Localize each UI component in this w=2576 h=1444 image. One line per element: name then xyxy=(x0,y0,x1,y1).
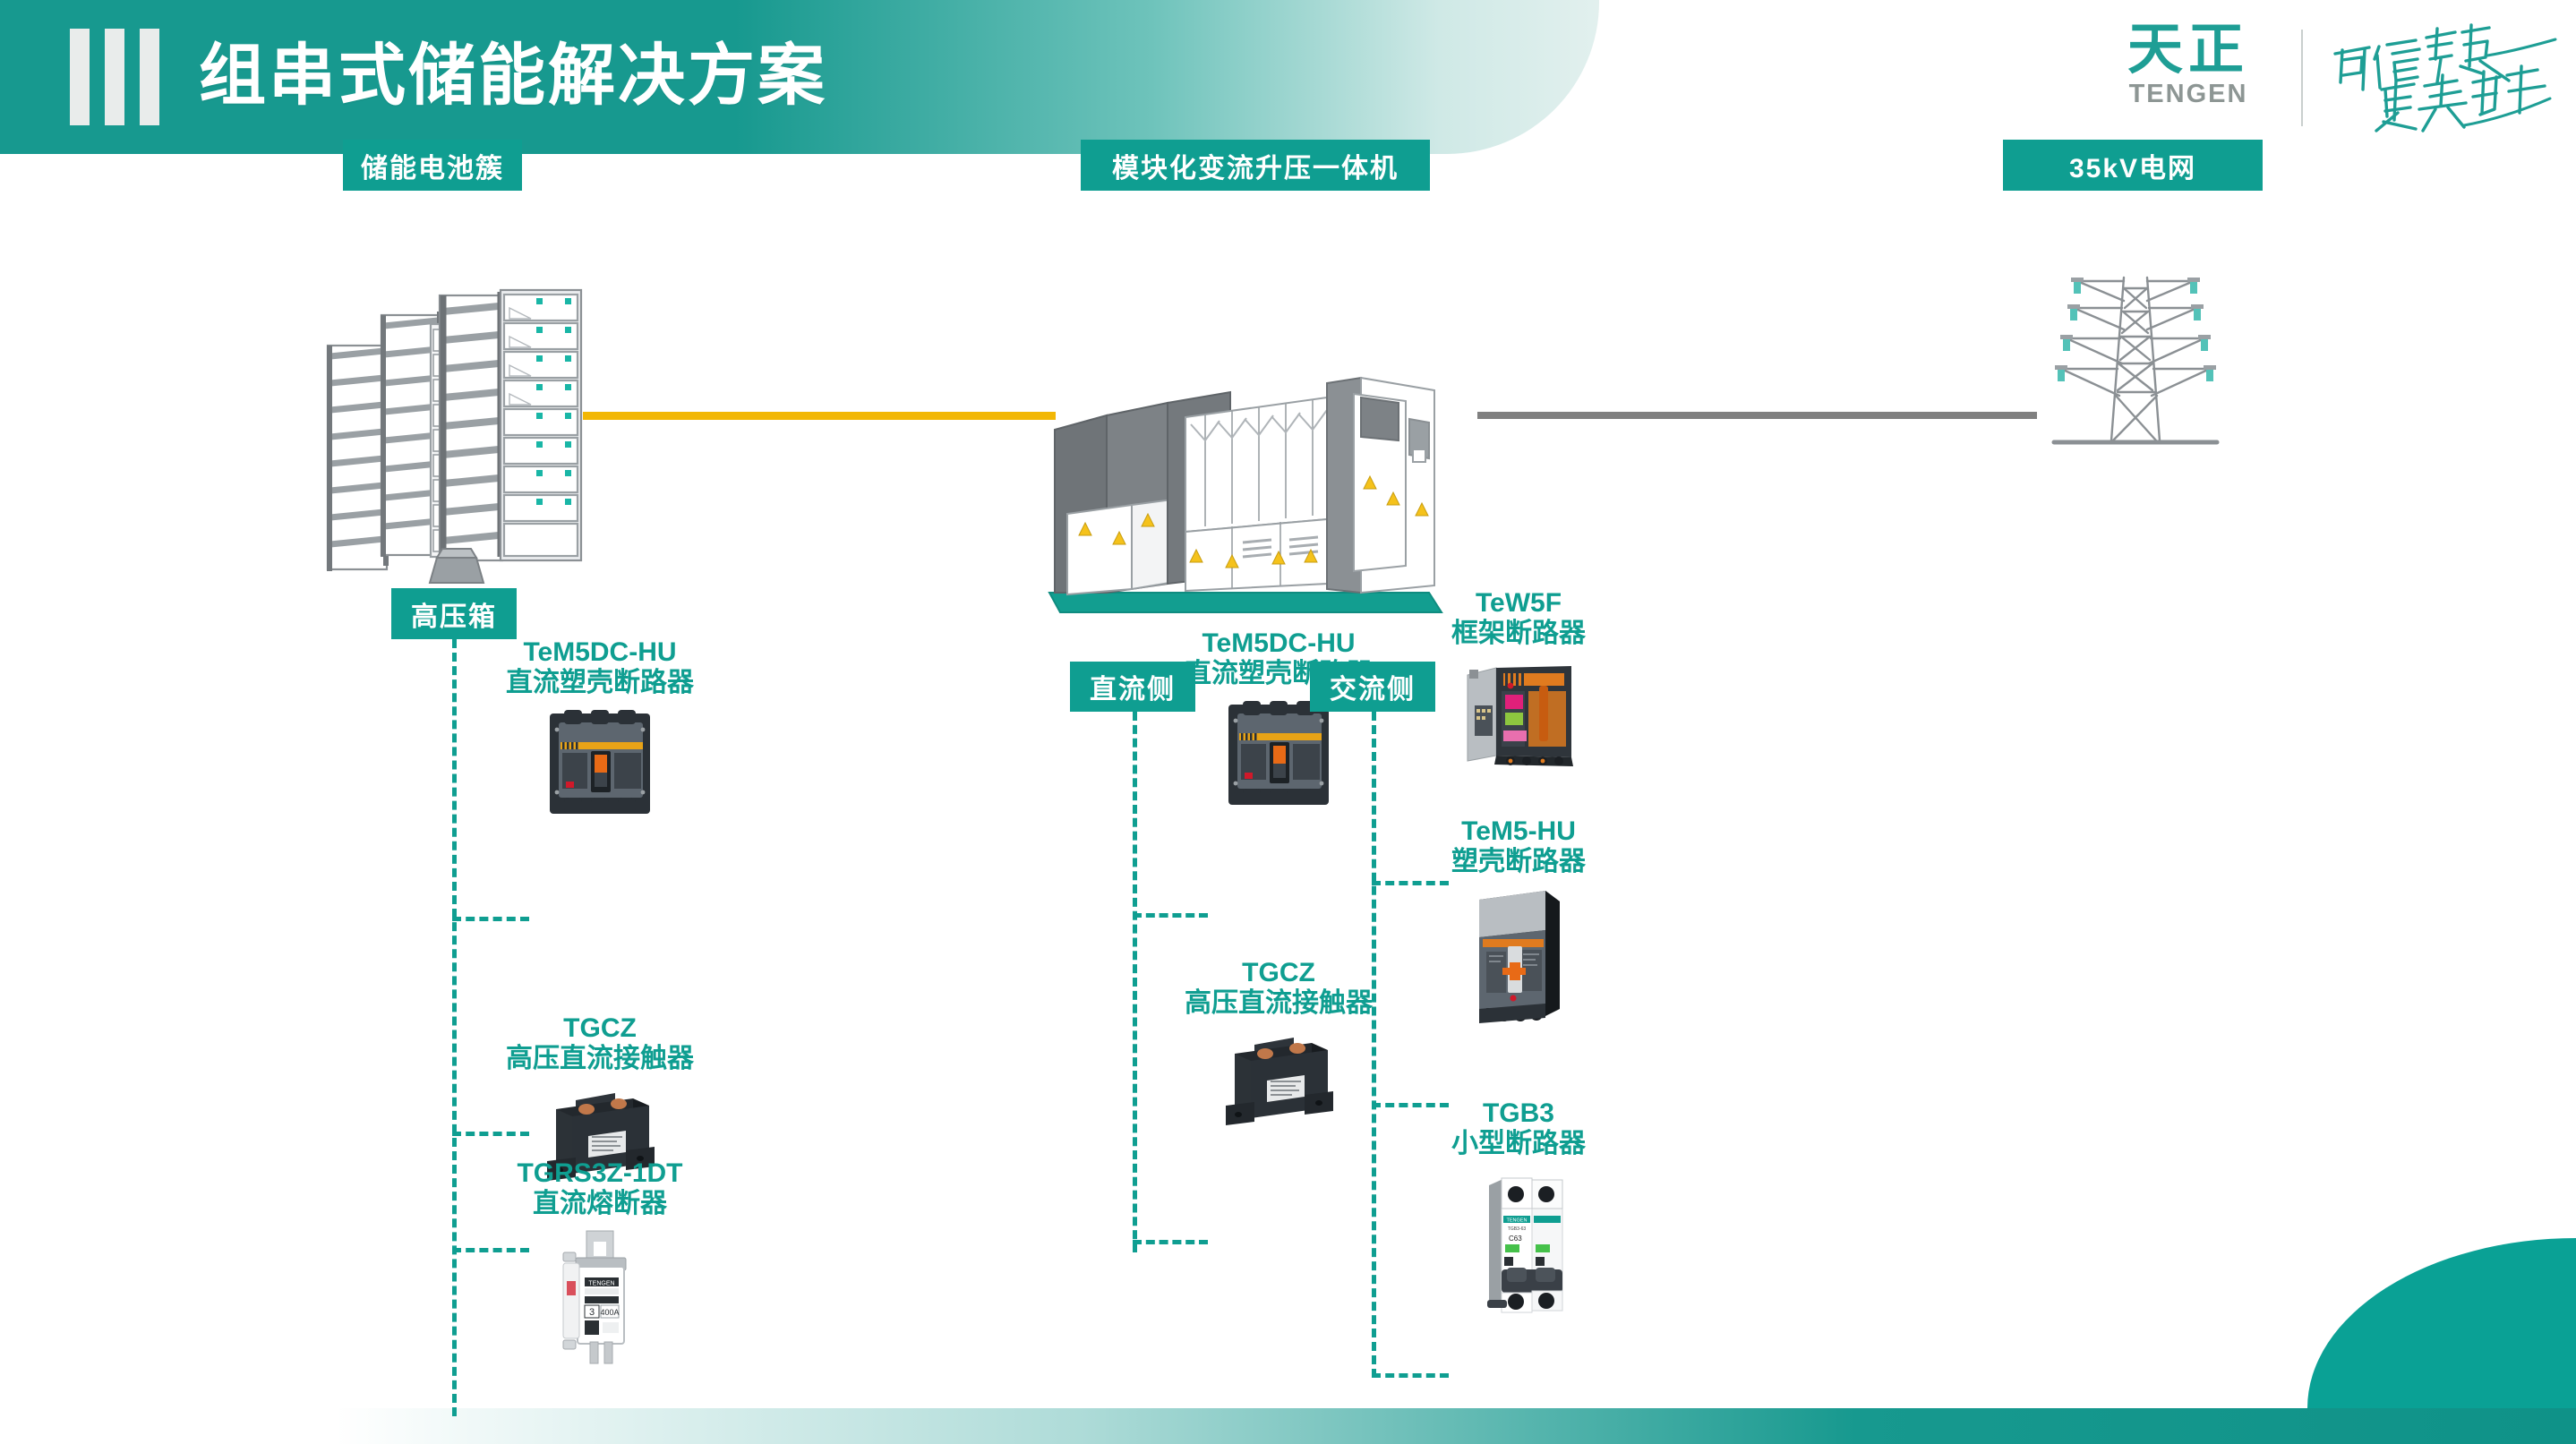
device-card-hv-3: TGRS3Z-1DT 直流熔断器 TENGEN 3 400A xyxy=(475,1158,725,1373)
ac-side-branch-3 xyxy=(1372,1373,1449,1378)
device-desc: 塑壳断路器 xyxy=(1393,847,1644,877)
svg-text:TENGEN: TENGEN xyxy=(1507,1218,1528,1224)
device-card-hv-1: TeM5DC-HU 直流塑壳断路器 xyxy=(475,637,725,825)
device-model: TeW5F xyxy=(1393,588,1644,619)
bottom-gradient-bar xyxy=(0,1408,2576,1444)
device-model: TeM5DC-HU xyxy=(475,637,725,668)
device-desc: 直流熔断器 xyxy=(475,1189,725,1219)
brand-name-en: TENGEN xyxy=(2103,80,2273,109)
hv-box-branch-trunk xyxy=(452,639,457,1416)
section-label-converter: 模块化变流升压一体机 xyxy=(1081,140,1430,191)
handwritten-slogan-icon xyxy=(2330,20,2563,134)
page-title: 组串式储能解决方案 xyxy=(199,27,827,124)
high-voltage-box-icon xyxy=(421,543,492,593)
dc-bus-line xyxy=(583,412,1056,420)
device-model: TGRS3Z-1DT xyxy=(475,1158,725,1189)
molded-case-circuit-breaker-icon xyxy=(475,705,725,825)
hv-box-branch-1 xyxy=(452,917,529,921)
section-label-ac-side: 交流侧 xyxy=(1310,662,1435,712)
svg-text:TENGEN: TENGEN xyxy=(588,1281,614,1287)
section-label-dc-side: 直流侧 xyxy=(1070,662,1195,712)
brand-logo-area: 天正 TENGEN xyxy=(2003,0,2576,154)
section-label-hv-box: 高压箱 xyxy=(391,588,517,639)
brand-divider xyxy=(2301,30,2303,126)
dc-side-branch-1 xyxy=(1133,913,1208,918)
molded-case-circuit-breaker-icon xyxy=(1393,884,1644,1031)
ac-bus-line xyxy=(1477,412,2037,419)
tengen-logo: 天正 TENGEN xyxy=(2103,23,2273,109)
device-desc: 高压直流接触器 xyxy=(1153,988,1404,1019)
device-card-ac-2: TeM5-HU 塑壳断路器 xyxy=(1393,816,1644,1031)
svg-text:TGB3-63: TGB3-63 xyxy=(1508,1226,1527,1232)
dc-fuse-icon: TENGEN 3 400A xyxy=(475,1226,725,1373)
container-converter-icon xyxy=(1042,297,1445,642)
device-card-ac-3: TGB3 小型断路器 TENGEN TGB3-63 C63 xyxy=(1393,1098,1644,1322)
device-model: TGB3 xyxy=(1393,1098,1644,1129)
svg-text:C63: C63 xyxy=(1509,1235,1522,1243)
miniature-circuit-breaker-icon: TENGEN TGB3-63 C63 xyxy=(1393,1166,1644,1322)
device-desc: 框架断路器 xyxy=(1393,619,1644,649)
section-label-battery: 储能电池簇 xyxy=(343,140,522,191)
section-label-grid: 35kV电网 xyxy=(2003,140,2263,191)
dc-side-branch-2 xyxy=(1133,1240,1208,1244)
device-model: TeM5DC-HU xyxy=(1153,628,1404,659)
device-model: TGCZ xyxy=(1153,958,1404,988)
device-model: TGCZ xyxy=(475,1013,725,1044)
dc-contactor-icon xyxy=(1153,1025,1404,1137)
dc-side-branch-trunk xyxy=(1133,712,1137,1252)
device-card-dc-2: TGCZ 高压直流接触器 xyxy=(1153,958,1404,1137)
device-desc: 直流塑壳断路器 xyxy=(475,668,725,698)
device-desc: 小型断路器 xyxy=(1393,1129,1644,1159)
device-card-dc-1: TeM5DC-HU 直流塑壳断路器 xyxy=(1153,628,1404,816)
page-header: 组串式储能解决方案 xyxy=(0,0,1599,154)
three-bars-icon xyxy=(70,29,159,125)
corner-decoration xyxy=(2307,1238,2576,1408)
device-model: TeM5-HU xyxy=(1393,816,1644,847)
molded-case-circuit-breaker-icon xyxy=(1153,696,1404,816)
transmission-tower-icon xyxy=(2041,261,2229,472)
diagram-canvas: 储能电池簇 高压箱 模块化变流升压一体机 直流侧 交流侧 35kV电网 xyxy=(0,154,2576,1444)
brand-name-cn: 天正 xyxy=(2103,23,2273,78)
svg-text:400A: 400A xyxy=(600,1308,619,1317)
device-desc: 高压直流接触器 xyxy=(475,1044,725,1074)
svg-text:3: 3 xyxy=(589,1307,595,1318)
